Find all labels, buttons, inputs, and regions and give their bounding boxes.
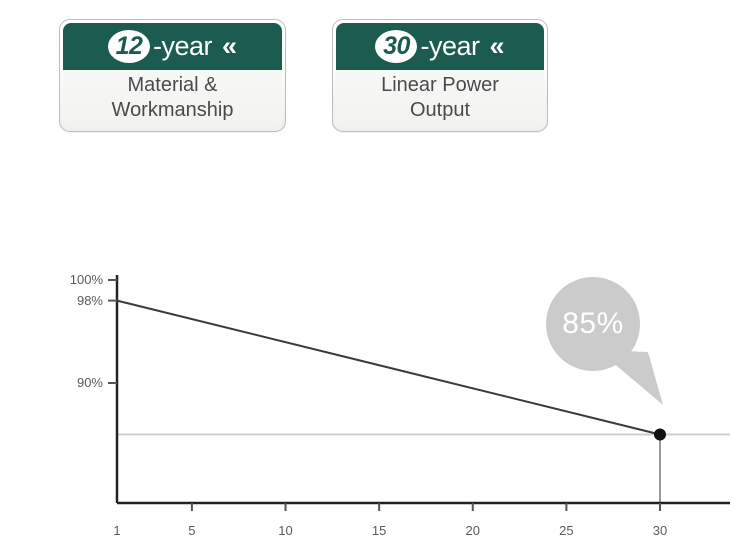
- badge-warranty-power: 30 -year « Linear Power Output: [332, 19, 548, 132]
- badge-description-line-1: Linear Power: [381, 73, 499, 97]
- y-axis-tick-label: 100%: [70, 272, 103, 287]
- double-chevron-left-icon: «: [489, 33, 504, 60]
- badge-header: 12 -year «: [63, 23, 282, 70]
- x-axis-tick-label: 20: [453, 523, 493, 538]
- x-axis-tick-label: 1: [97, 523, 137, 538]
- callout-bubble-85: 85%: [546, 277, 640, 371]
- x-axis-tick-label: 30: [640, 523, 680, 538]
- end-point-marker: [654, 429, 666, 441]
- x-axis-tick-label: 25: [546, 523, 586, 538]
- callout-value: 85%: [562, 307, 624, 341]
- badge-inner: 12 -year « Material & Workmanship: [63, 23, 282, 128]
- badge-year-suffix: -year: [153, 31, 212, 62]
- x-axis-tick-label: 5: [172, 523, 212, 538]
- double-chevron-left-icon: «: [222, 33, 237, 60]
- badge-description-line-1: Material &: [127, 73, 217, 97]
- y-axis-tick-label: 90%: [77, 375, 103, 390]
- y-axis-tick-label: 98%: [77, 293, 103, 308]
- badge-description-line-2: Output: [410, 98, 470, 122]
- x-axis-tick-label: 15: [359, 523, 399, 538]
- badge-description: Linear Power Output: [336, 70, 544, 128]
- badge-inner: 30 -year « Linear Power Output: [336, 23, 544, 128]
- badge-warranty-material: 12 -year « Material & Workmanship: [59, 19, 286, 132]
- badge-year-number: 12: [108, 30, 150, 63]
- badge-year-number: 30: [375, 30, 417, 63]
- x-axis-tick-label: 10: [266, 523, 306, 538]
- badge-year-suffix: -year: [420, 31, 479, 62]
- badge-header: 30 -year «: [336, 23, 544, 70]
- badge-description: Material & Workmanship: [63, 70, 282, 128]
- badge-description-line-2: Workmanship: [112, 98, 234, 122]
